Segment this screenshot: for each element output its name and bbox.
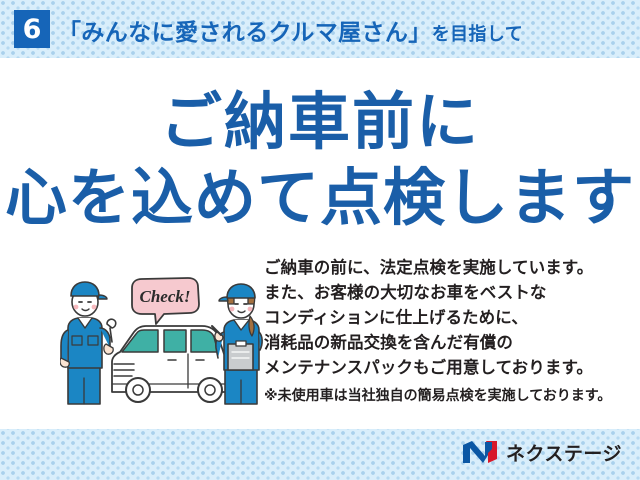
section-number-badge: 6: [14, 10, 50, 48]
content-panel: ご納車前に 心を込めて点検します ご納車の前に、法定点検を実施しています。 また…: [0, 58, 640, 429]
body-copy: ご納車の前に、法定点検を実施しています。 また、お客様の大切なお車をベストな コ…: [264, 256, 630, 408]
header-title: 「みんなに愛されるクルマ屋さん」を目指して: [58, 13, 523, 47]
nextage-n-logo-icon: [461, 439, 499, 465]
header-bar: 6 「みんなに愛されるクルマ屋さん」を目指して: [0, 0, 640, 58]
section-number-label: 6: [23, 16, 42, 43]
footer-bar: ネクステージ: [0, 429, 640, 480]
speech-bubble-label: Check!: [140, 287, 191, 306]
body-note: ※未使用車は当社独自の簡易点検を実施しております。: [264, 383, 630, 408]
brand-logo: ネクステージ: [461, 437, 622, 467]
headline-line-1: ご納車前に: [0, 92, 640, 154]
body-line: ご納車の前に、法定点検を実施しています。: [264, 256, 630, 281]
header-title-rest: を目指して: [432, 24, 523, 44]
poster-background: 6 「みんなに愛されるクルマ屋さん」を目指して ご納車前に 心を込めて点検します…: [0, 0, 640, 480]
left-mechanic: [60, 282, 116, 404]
headline-line-2: 心を込めて点検します: [0, 168, 640, 230]
illustration-svg: Check!: [60, 266, 265, 406]
body-line: メンテナンスパックもご用意しております。: [264, 356, 630, 381]
body-line: コンディションに仕上げるために、: [264, 306, 630, 331]
van-graphic: [112, 326, 230, 402]
body-line: 消耗品の新品交換を含んだ有償の: [264, 331, 630, 356]
body-line: また、お客様の大切なお車をベストな: [264, 281, 630, 306]
illustration-mechanics-van: Check!: [60, 266, 265, 406]
brand-name-label: ネクステージ: [506, 439, 622, 466]
header-title-quoted: 「みんなに愛されるクルマ屋さん」: [58, 19, 432, 45]
